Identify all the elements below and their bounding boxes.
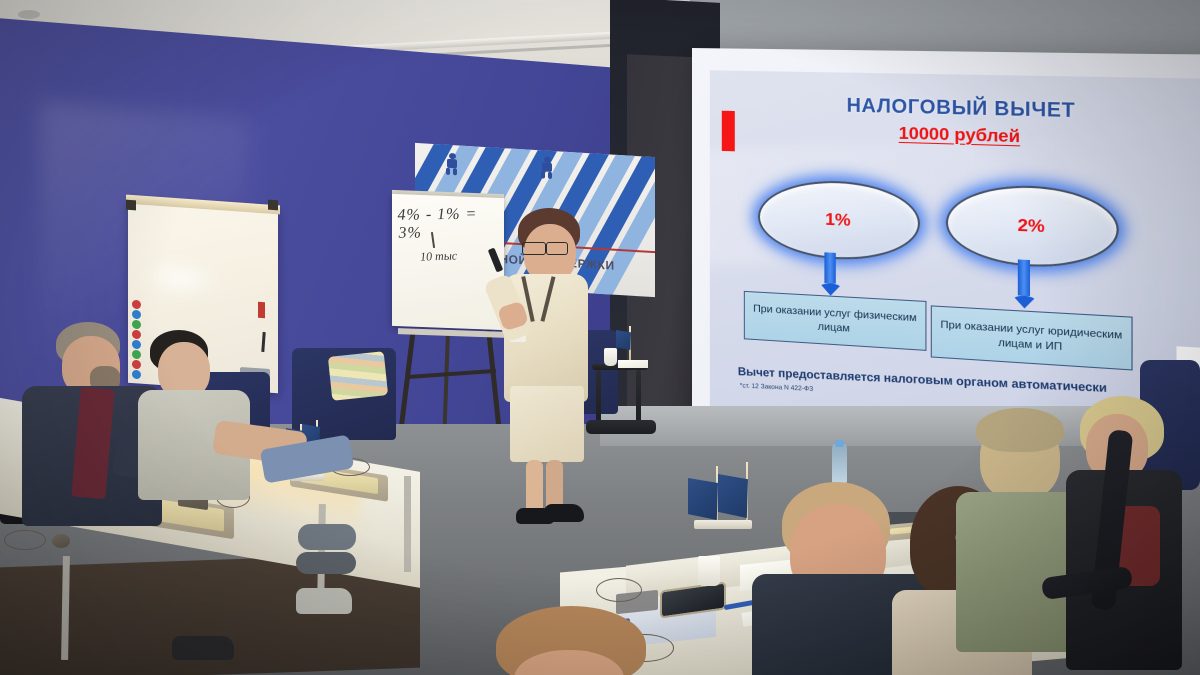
mascot-figure-icon [540, 156, 554, 179]
paper-cup [604, 348, 617, 366]
shoe [298, 524, 356, 550]
water-bottle[interactable] [832, 444, 847, 484]
slide-note: Вычет предоставляется налоговым органом … [738, 366, 1170, 398]
flipchart-line-2: 10 тыс [420, 247, 499, 264]
down-arrow-icon [1018, 259, 1030, 296]
grey-wall-top [690, 0, 1200, 54]
whiteboard-marker-red [258, 302, 265, 318]
flipchart-line-1: 4% - 1% = 3% [397, 205, 499, 242]
stand-post [636, 370, 641, 424]
whiteboard-glare [140, 253, 220, 303]
service-box-legal-entities: При оказании услуг юридическим лицам и И… [931, 305, 1133, 370]
mascot-figure-icon [445, 153, 459, 176]
flipchart-handwriting: 4% - 1% = 3% 10 тыс [398, 204, 498, 265]
percent-oval-2-label: 2% [1018, 215, 1045, 237]
papers [618, 360, 648, 368]
shoe [172, 636, 234, 660]
stand-base [586, 420, 656, 434]
shoe [296, 588, 352, 614]
desk-flag [616, 330, 631, 350]
cable [596, 578, 642, 602]
percent-oval-1-label: 1% [825, 209, 851, 231]
smoke-detector-icon [18, 10, 40, 19]
flag-base [694, 520, 752, 529]
whiteboard-rail-cap [126, 200, 136, 211]
conference-room-photo: СТВЕННОЙ ПОДДЕРЖКИ 4% - 1% = 3% 10 тыс Н… [0, 0, 1200, 675]
slide-content: НАЛОГОВЫЙ ВЫЧЕТ 10000 рублей 1% 2% При о… [710, 70, 1200, 448]
slide-footnote: *ст. 12 Закона N 422-ФЗ [740, 382, 814, 393]
cable [4, 530, 46, 550]
desk-flag [688, 478, 718, 520]
stand-post [596, 370, 601, 424]
bottle-cap [835, 440, 844, 447]
magnet-strip [132, 300, 142, 387]
service-box-individuals: При оказании услуг физическим лицам [744, 291, 927, 351]
whiteboard-rail-cap [268, 200, 278, 211]
paper-cup [698, 556, 720, 586]
table-leg [404, 476, 411, 572]
mouse[interactable] [52, 534, 70, 548]
desk-flag [718, 474, 748, 518]
striped-pillow [328, 351, 388, 401]
down-arrow-icon [824, 252, 835, 283]
shoe [296, 552, 356, 574]
